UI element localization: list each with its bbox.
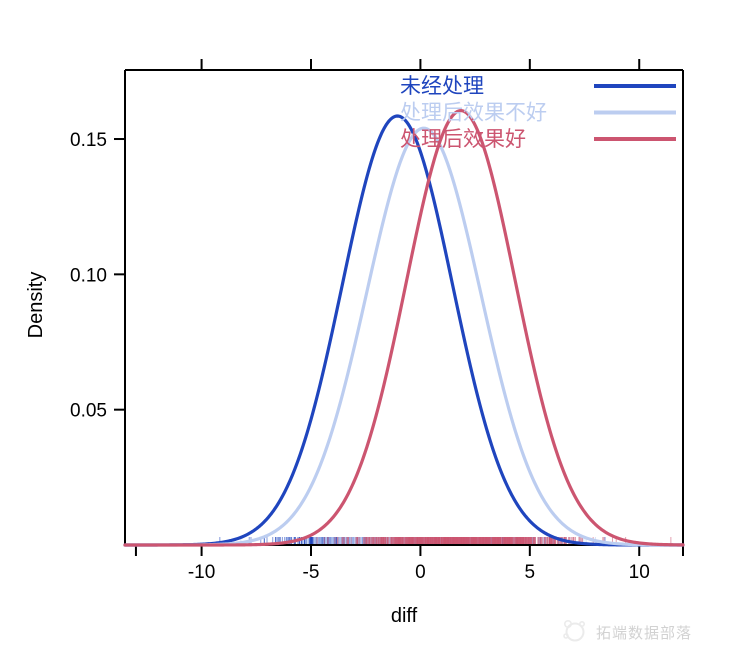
x-tick-label: 5 bbox=[525, 562, 536, 583]
legend-label: 处理后效果好 bbox=[400, 127, 526, 151]
y-tick-label: 0.15 bbox=[70, 130, 107, 151]
legend-label: 未经处理 bbox=[400, 74, 484, 98]
x-tick-label: -10 bbox=[188, 562, 215, 583]
legend-label: 处理后效果不好 bbox=[400, 101, 547, 125]
chart-canvas: -10-50510 0.050.100.15 Density diff 未经处理… bbox=[0, 0, 741, 662]
x-axis-title: diff bbox=[391, 605, 418, 627]
x-tick-label: 10 bbox=[629, 562, 650, 583]
y-axis-title: Density bbox=[25, 272, 47, 339]
y-tick-label: 0.05 bbox=[70, 401, 107, 422]
watermark-label: 拓端数据部落 bbox=[596, 624, 692, 642]
density-plot-figure: -10-50510 0.050.100.15 Density diff 未经处理… bbox=[0, 0, 741, 662]
x-tick-label: -5 bbox=[303, 562, 320, 583]
x-tick-label: 0 bbox=[415, 562, 426, 583]
y-tick-label: 0.10 bbox=[70, 265, 107, 286]
